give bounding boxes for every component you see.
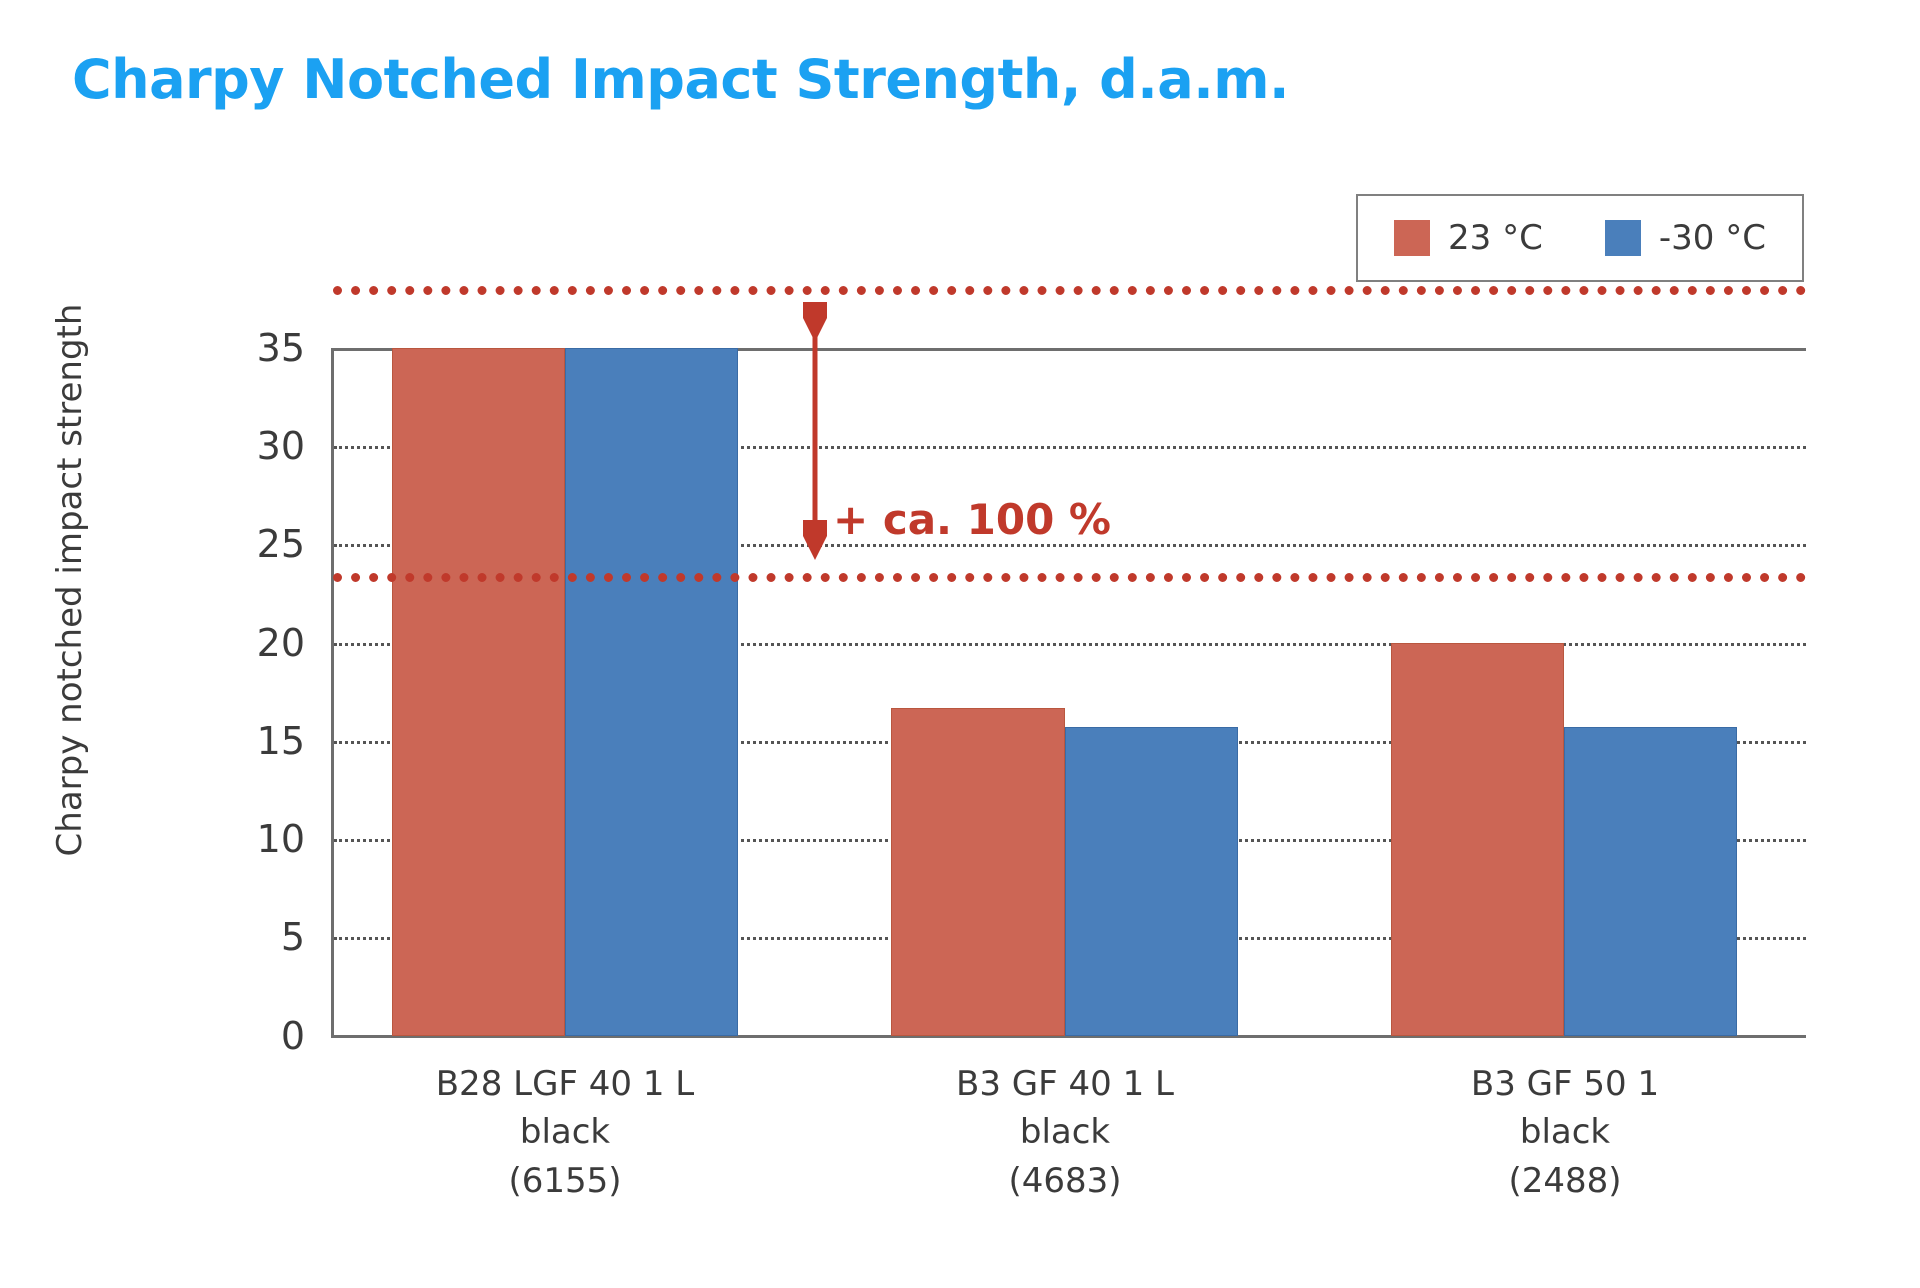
annotation-double-arrow xyxy=(803,287,827,575)
bar-23c-b28lgf40[interactable] xyxy=(392,348,565,1036)
y-tick-20: 20 xyxy=(205,621,305,665)
y-tick-35: 35 xyxy=(205,326,305,370)
category-line-1-3: (6155) xyxy=(345,1157,785,1205)
y-axis-line xyxy=(331,348,334,1038)
chart-legend: 23 °C -30 °C xyxy=(1356,194,1804,282)
legend-label-23c: 23 °C xyxy=(1448,218,1543,258)
category-line-2-3: (4683) xyxy=(845,1157,1285,1205)
y-tick-30: 30 xyxy=(205,424,305,468)
bar-23c-b3gf50[interactable] xyxy=(1391,643,1564,1036)
reference-line-16-9 xyxy=(333,573,1806,582)
category-line-2-1: B3 GF 40 1 L xyxy=(845,1060,1285,1108)
y-tick-25: 25 xyxy=(205,522,305,566)
y-axis-title: Charpy notched impact strength xyxy=(50,280,90,880)
y-tick-labels: 35 30 25 20 15 10 5 0 xyxy=(205,0,305,1288)
legend-swatch-blue xyxy=(1605,220,1641,256)
annotation-label: + ca. 100 % xyxy=(833,495,1111,544)
legend-label-minus30c: -30 °C xyxy=(1659,218,1766,258)
category-label-1: B28 LGF 40 1 L black (6155) xyxy=(345,1060,785,1205)
legend-item-23c[interactable]: 23 °C xyxy=(1394,218,1543,258)
bar-minus30c-b3gf40[interactable] xyxy=(1065,727,1238,1036)
bar-23c-b3gf40[interactable] xyxy=(891,708,1065,1036)
category-label-2: B3 GF 40 1 L black (4683) xyxy=(845,1060,1285,1205)
y-tick-0: 0 xyxy=(205,1014,305,1058)
category-line-1-1: B28 LGF 40 1 L xyxy=(345,1060,785,1108)
y-tick-15: 15 xyxy=(205,719,305,763)
category-line-3-2: black xyxy=(1345,1108,1785,1156)
category-line-3-1: B3 GF 50 1 xyxy=(1345,1060,1785,1108)
category-line-3-3: (2488) xyxy=(1345,1157,1785,1205)
reference-line-35 xyxy=(333,286,1806,295)
bar-minus30c-b3gf50[interactable] xyxy=(1564,727,1737,1036)
category-label-3: B3 GF 50 1 black (2488) xyxy=(1345,1060,1785,1205)
legend-swatch-red xyxy=(1394,220,1430,256)
y-tick-10: 10 xyxy=(205,817,305,861)
category-line-2-2: black xyxy=(845,1108,1285,1156)
category-line-1-2: black xyxy=(345,1108,785,1156)
y-tick-5: 5 xyxy=(205,915,305,959)
legend-item-minus30c[interactable]: -30 °C xyxy=(1605,218,1766,258)
bar-minus30c-b28lgf40[interactable] xyxy=(565,348,738,1036)
